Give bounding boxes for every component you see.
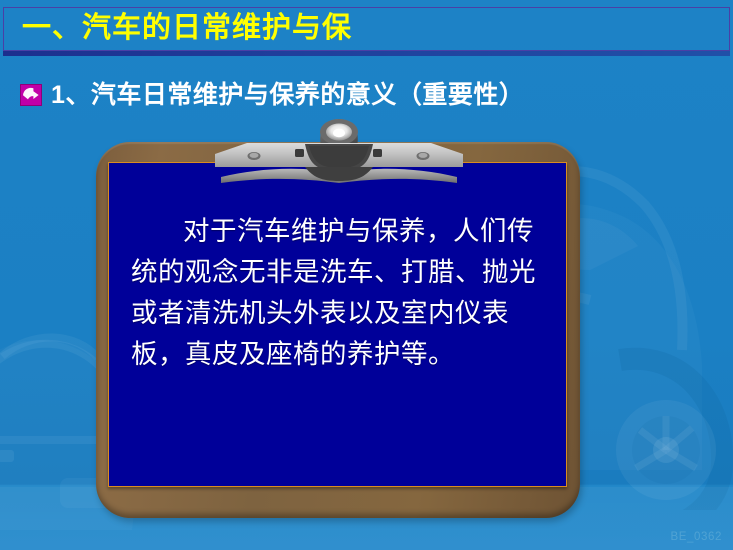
arrow-right-square-icon (20, 84, 42, 106)
slide-watermark: BE_0362 (670, 531, 722, 543)
subtitle-row: 1、汽车日常维护与保养的意义（重要性） (20, 80, 524, 110)
clipboard-clip-icon (209, 119, 469, 186)
subtitle-text: 1、汽车日常维护与保养的意义（重要性） (51, 80, 524, 110)
presentation-slide: 一、汽车的日常维护与保 1、汽车日常维护与保养的意义（重要性） 对于汽车维护与保… (0, 0, 733, 550)
page-title: 一、汽车的日常维护与保 (22, 9, 352, 47)
clipboard-icon: 对于汽车维护与保养，人们传统的观念无非是洗车、打腊、抛光或者清洗机头外表以及室内… (96, 142, 580, 518)
clipboard-paper-panel: 对于汽车维护与保养，人们传统的观念无非是洗车、打腊、抛光或者清洗机头外表以及室内… (108, 162, 567, 487)
clipboard-body-text: 对于汽车维护与保养，人们传统的观念无非是洗车、打腊、抛光或者清洗机头外表以及室内… (131, 211, 545, 375)
slide-title-underline (3, 51, 730, 56)
